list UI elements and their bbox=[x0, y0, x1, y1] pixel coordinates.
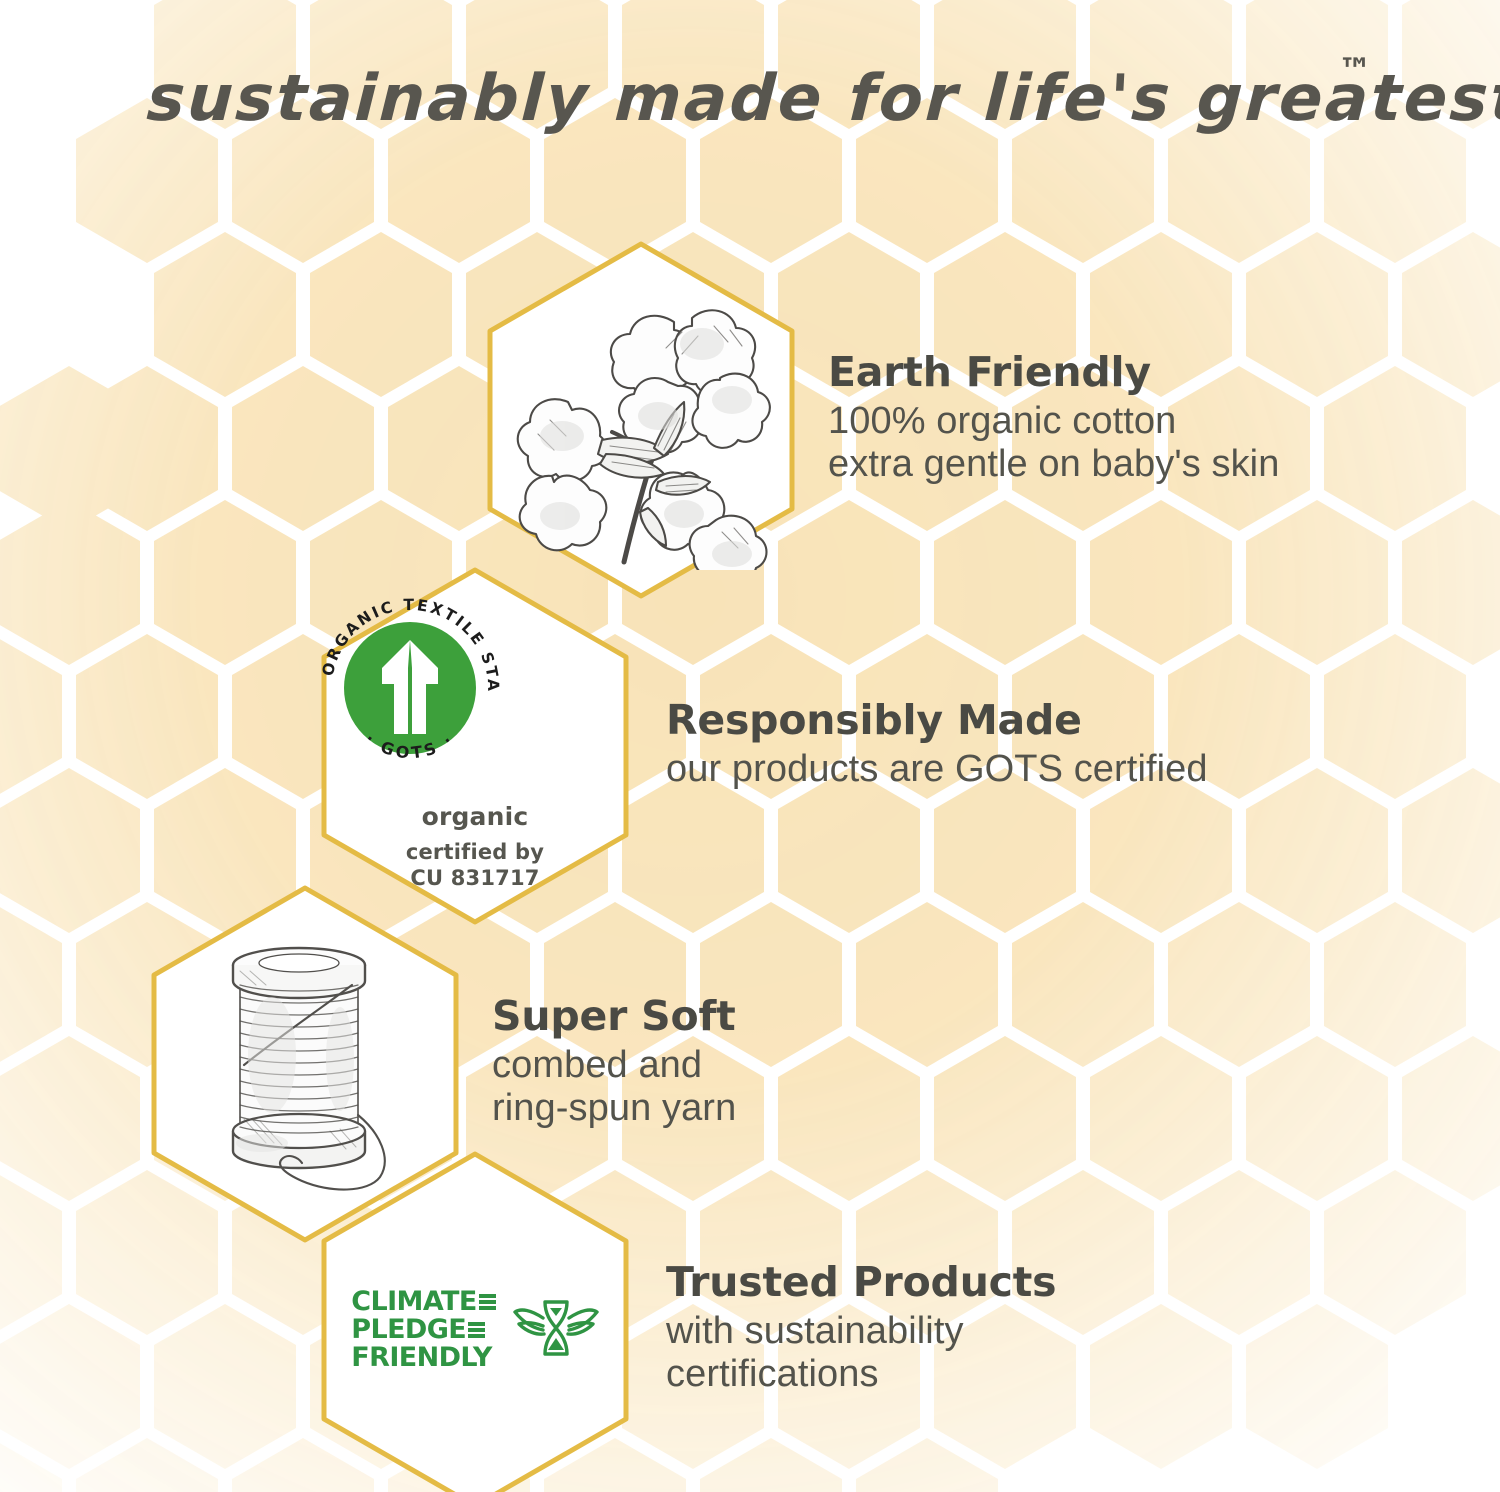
feature-text-trusted-products: Trusted Products with sustainability cer… bbox=[666, 1262, 1490, 1398]
feature-trusted-products: CLIMATE PLEDGE FRIENDLY bbox=[310, 1146, 1490, 1492]
feature-line: extra gentle on baby's skin bbox=[828, 445, 1476, 483]
feature-line: 100% organic cotton bbox=[828, 402, 1476, 440]
feature-text-super-soft: Super Soft combed and ring-spun yarn bbox=[492, 996, 1140, 1132]
feature-title: Earth Friendly bbox=[828, 352, 1476, 393]
feature-line: our products are GOTS certified bbox=[666, 750, 1490, 788]
page-headline: sustainably made for life's greatest joy… bbox=[0, 42, 1500, 152]
hexagon-frame-gots: GLOBAL ORGANIC TEXTILE STANDARD · GOTS ·… bbox=[310, 562, 640, 930]
feature-text-earth-friendly: Earth Friendly 100% organic cotton extra… bbox=[828, 352, 1476, 488]
feature-text-responsibly-made: Responsibly Made our products are GOTS c… bbox=[666, 700, 1490, 793]
feature-earth-friendly: Earth Friendly 100% organic cotton extra… bbox=[476, 236, 1476, 604]
headline-text: sustainably made for life's greatest joy bbox=[145, 62, 1500, 136]
hexagon-frame-climate-pledge: CLIMATE PLEDGE FRIENDLY bbox=[310, 1146, 640, 1492]
feature-responsibly-made: GLOBAL ORGANIC TEXTILE STANDARD · GOTS ·… bbox=[310, 562, 1490, 930]
feature-title: Super Soft bbox=[492, 996, 1140, 1037]
feature-title: Trusted Products bbox=[666, 1262, 1490, 1303]
headline-trademark-icon: ™ bbox=[1338, 51, 1372, 91]
sustainability-infographic: sustainably made for life's greatest joy… bbox=[0, 0, 1500, 1492]
feature-line: with sustainability bbox=[666, 1312, 1490, 1350]
feature-line: certifications bbox=[666, 1355, 1490, 1393]
feature-line: ring-spun yarn bbox=[492, 1089, 1140, 1127]
hexagon-frame-cotton bbox=[476, 236, 806, 604]
feature-line: combed and bbox=[492, 1046, 1140, 1084]
feature-title: Responsibly Made bbox=[666, 700, 1490, 741]
